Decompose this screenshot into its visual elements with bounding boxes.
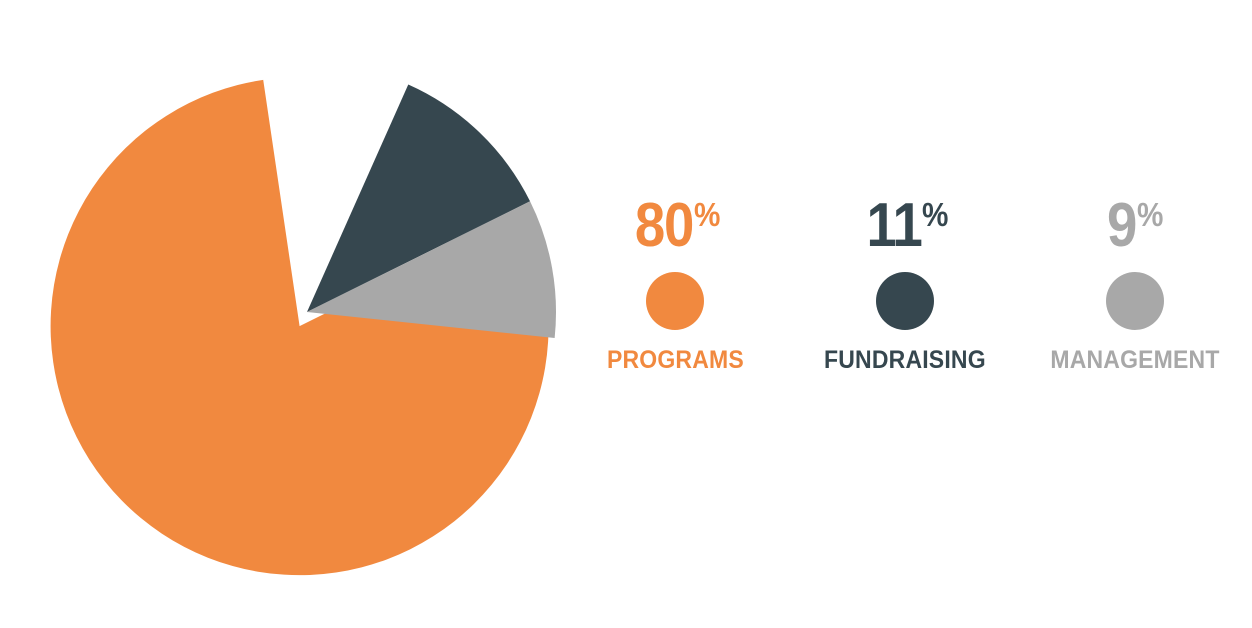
legend-label-programs: PROGRAMS	[607, 346, 744, 375]
legend-label-management: MANAGEMENT	[1050, 346, 1219, 375]
legend-percent-sign-programs: %	[694, 198, 720, 231]
legend-dot-fundraising	[876, 272, 934, 330]
legend-percent-management: 9 %	[1103, 196, 1166, 258]
pie-chart-svg	[0, 0, 600, 628]
legend-item-management[interactable]: 9 % MANAGEMENT	[1020, 196, 1250, 375]
legend-percent-value-programs: 80	[635, 196, 693, 256]
legend-dot-management	[1106, 272, 1164, 330]
pie-chart	[0, 0, 600, 628]
chart-canvas: 80 % PROGRAMS 11 % FUNDRAISING 9 % MANAG…	[0, 0, 1252, 628]
legend-percent-programs: 80 %	[627, 196, 723, 258]
legend-percent-sign-management: %	[1137, 198, 1163, 231]
legend-percent-value-fundraising: 11	[866, 196, 921, 256]
chart-legend: 80 % PROGRAMS 11 % FUNDRAISING 9 % MANAG…	[560, 196, 1250, 406]
legend-dot-programs	[646, 272, 704, 330]
legend-label-fundraising: FUNDRAISING	[824, 346, 986, 375]
legend-item-programs[interactable]: 80 % PROGRAMS	[560, 196, 790, 375]
legend-item-fundraising[interactable]: 11 % FUNDRAISING	[790, 196, 1020, 375]
legend-percent-fundraising: 11 %	[859, 196, 952, 258]
legend-percent-value-management: 9	[1107, 196, 1136, 256]
legend-percent-sign-fundraising: %	[922, 198, 948, 231]
